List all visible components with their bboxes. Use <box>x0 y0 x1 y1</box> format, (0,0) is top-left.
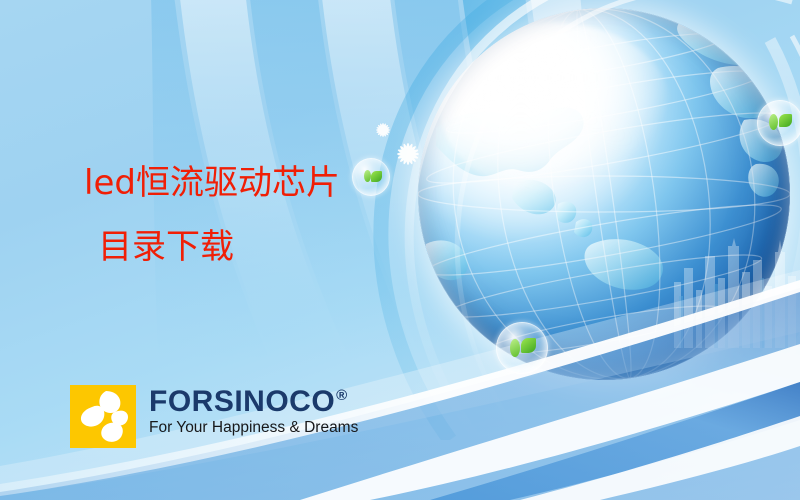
bubble-eco-right <box>757 100 800 146</box>
leaf-icon <box>510 339 520 357</box>
bubble-eco-lower <box>496 322 548 374</box>
leaf-icon <box>521 338 536 353</box>
sparkle-small-icon <box>374 121 392 144</box>
headline-line-2: 目录下载 <box>98 226 504 268</box>
slide-canvas: led恒流驱动芯片 目录下载 FORSINOCO ® For Your Happ… <box>0 0 800 500</box>
forsinoco-pinwheel-icon <box>70 385 136 448</box>
brand-tagline: For Your Happiness & Dreams <box>149 418 358 437</box>
sparkle-small-svg <box>374 121 392 139</box>
brand-logo: FORSINOCO ® For Your Happiness & Dreams <box>70 385 358 448</box>
brand-text-block: FORSINOCO ® For Your Happiness & Dreams <box>149 386 358 437</box>
leaf-icon <box>779 114 792 127</box>
headline-line-1: led恒流驱动芯片 <box>84 162 504 204</box>
leaf-icon <box>769 114 778 130</box>
registered-mark-icon: ® <box>336 388 348 403</box>
headline-block: led恒流驱动芯片 目录下载 <box>84 162 504 268</box>
pinwheel-svg <box>70 385 136 448</box>
brand-name-row: FORSINOCO ® <box>149 386 358 417</box>
brand-name: FORSINOCO <box>149 386 335 417</box>
